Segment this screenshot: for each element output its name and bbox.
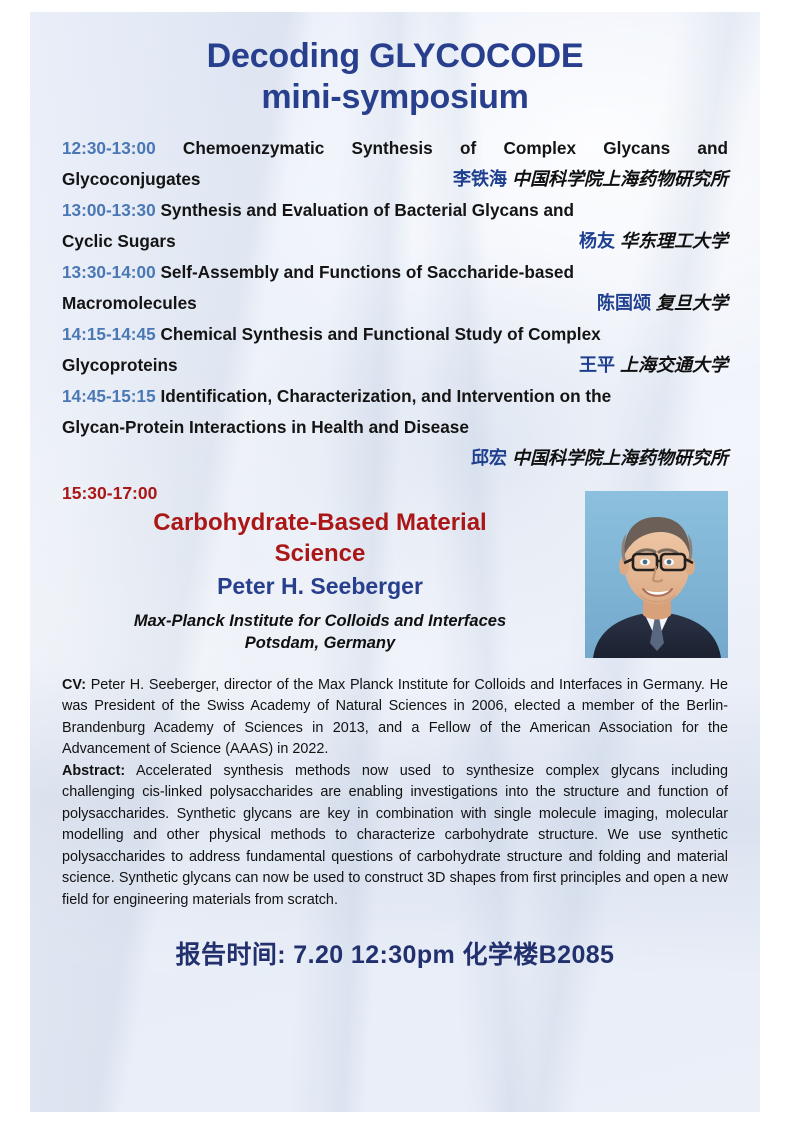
keynote-title-line-2: Science [62, 539, 578, 568]
schedule-item-affiliation: 中国科学院上海药物研究所 [512, 448, 728, 468]
schedule-item-credit: 李铁海中国科学院上海药物研究所 [453, 164, 728, 195]
schedule-item-affiliation: 复旦大学 [656, 293, 728, 313]
keynote-affiliation-line-1: Max-Planck Institute for Colloids and In… [62, 611, 578, 633]
schedule-item-affiliation: 上海交通大学 [620, 355, 728, 375]
keynote-affiliation-line-2: Potsdam, Germany [62, 633, 578, 655]
schedule-item-affiliation: 中国科学院上海药物研究所 [512, 169, 728, 189]
poster-canvas: Decoding GLYCOCODE mini-symposium 12:30-… [30, 12, 760, 1112]
abstract-paragraph: Abstract: Accelerated synthesis methods … [62, 761, 728, 912]
biography-and-abstract: CV: Peter H. Seeberger, director of the … [62, 675, 728, 912]
schedule-item-title-line2: Glycan-Protein Interactions in Health an… [62, 412, 469, 443]
schedule-item: 13:00-13:30 Synthesis and Evaluation of … [62, 195, 728, 257]
schedule-item: 14:15-14:45 Chemical Synthesis and Funct… [62, 319, 728, 381]
schedule-item-speaker: 王平 [579, 355, 615, 375]
schedule-item-speaker: 杨友 [579, 231, 615, 251]
keynote-speaker-name: Peter H. Seeberger [62, 572, 578, 602]
abstract-text: Accelerated synthesis methods now used t… [62, 763, 728, 908]
schedule-item-speaker: 李铁海 [453, 169, 507, 189]
schedule-item-title-line2: Macromolecules [62, 288, 197, 319]
event-time-location-footer: 报告时间: 7.20 12:30pm 化学楼B2085 [30, 935, 760, 971]
schedule-item-time: 14:45-15:15 [62, 386, 156, 406]
schedule-item-title-line2: Glycoproteins [62, 350, 178, 381]
schedule-item-title-line2: Glycoconjugates [62, 164, 201, 195]
keynote-portrait [585, 491, 728, 658]
schedule-item-title-line1: Chemical Synthesis and Functional Study … [160, 324, 600, 344]
poster-title-line-1: Decoding GLYCOCODE [30, 36, 760, 77]
schedule-item-time: 14:15-14:45 [62, 324, 156, 344]
schedule-item-speaker: 陈国颂 [597, 293, 651, 313]
schedule-item-affiliation: 华东理工大学 [620, 231, 728, 251]
schedule-item-title-line1: Synthesis and Evaluation of Bacterial Gl… [160, 200, 574, 220]
schedule-item-title-line2: Cyclic Sugars [62, 226, 176, 257]
schedule-item: 13:30-14:00 Self-Assembly and Functions … [62, 257, 728, 319]
keynote-block: 15:30-17:00 Carbohydrate-Based Material … [62, 480, 728, 665]
schedule-item-credit: 陈国颂复旦大学 [597, 288, 728, 319]
portrait-illustration [585, 491, 728, 658]
schedule-item-speaker: 邱宏 [471, 448, 507, 468]
schedule-item-credit: 杨友华东理工大学 [579, 226, 728, 257]
abstract-label: Abstract: [62, 763, 125, 779]
poster-title-line-2: mini-symposium [30, 77, 760, 118]
cv-text: Peter H. Seeberger, director of the Max … [62, 677, 728, 758]
schedule-item-time: 13:00-13:30 [62, 200, 156, 220]
schedule-item-title-line1: Self-Assembly and Functions of Saccharid… [160, 262, 574, 282]
schedule-item-title-line1: Identification, Characterization, and In… [160, 386, 611, 406]
schedule-item: 14:45-15:15 Identification, Characteriza… [62, 381, 728, 474]
schedule-item-credit: 王平上海交通大学 [579, 350, 728, 381]
schedule-item-credit: 邱宏中国科学院上海药物研究所 [471, 443, 728, 474]
cv-paragraph: CV: Peter H. Seeberger, director of the … [62, 675, 728, 761]
schedule-item-title-line1: Chemoenzymatic Synthesis of Complex Glyc… [183, 138, 728, 158]
schedule-list: 12:30-13:00 Chemoenzymatic Synthesis of … [62, 133, 728, 474]
keynote-title-line-1: Carbohydrate-Based Material [62, 508, 578, 537]
schedule-item-time: 13:30-14:00 [62, 262, 156, 282]
schedule-item-time: 12:30-13:00 [62, 138, 156, 158]
keynote-text: Carbohydrate-Based Material Science Pete… [62, 508, 578, 655]
cv-label: CV: [62, 677, 86, 693]
poster-title: Decoding GLYCOCODE mini-symposium [30, 12, 760, 119]
schedule-item: 12:30-13:00 Chemoenzymatic Synthesis of … [62, 133, 728, 195]
